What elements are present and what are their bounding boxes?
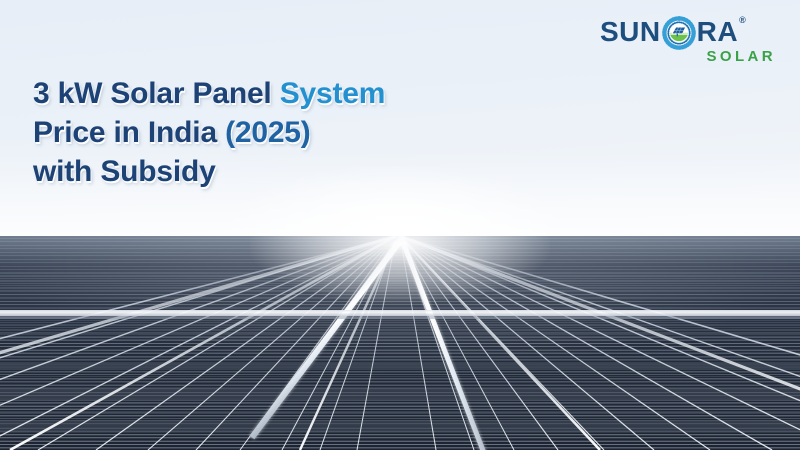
headline-line-2: Price in India (2025): [33, 113, 593, 152]
brand-wordmark-sun: SUN: [600, 16, 661, 48]
sunburst-solar-panel-emblem: [662, 16, 696, 50]
brand-tagline: SOLAR: [707, 48, 777, 65]
headline-line-1-dark: 3 kW Solar Panel: [33, 77, 280, 110]
promo-banner: 3 kW Solar Panel System Price in India (…: [0, 0, 800, 450]
headline-line-1-accent: System: [280, 77, 386, 110]
page-title: 3 kW Solar Panel System Price in India (…: [33, 74, 593, 191]
registered-trademark-icon: ®: [739, 15, 746, 25]
brand-logo[interactable]: SUN: [600, 12, 780, 74]
brand-wordmark: SUN: [600, 15, 746, 49]
panel-row-shadow-line: [0, 316, 800, 319]
brand-wordmark-ra: RA: [697, 16, 738, 48]
headline-line-3: with Subsidy: [33, 152, 593, 191]
solar-panel-array-photograph: [0, 236, 800, 450]
panel-perspective-gridlines: [0, 236, 800, 450]
headline-line-2-dark: Price in India: [33, 116, 225, 149]
headline-line-2-accent: (2025): [225, 116, 311, 149]
headline-line-1: 3 kW Solar Panel System: [33, 74, 593, 113]
